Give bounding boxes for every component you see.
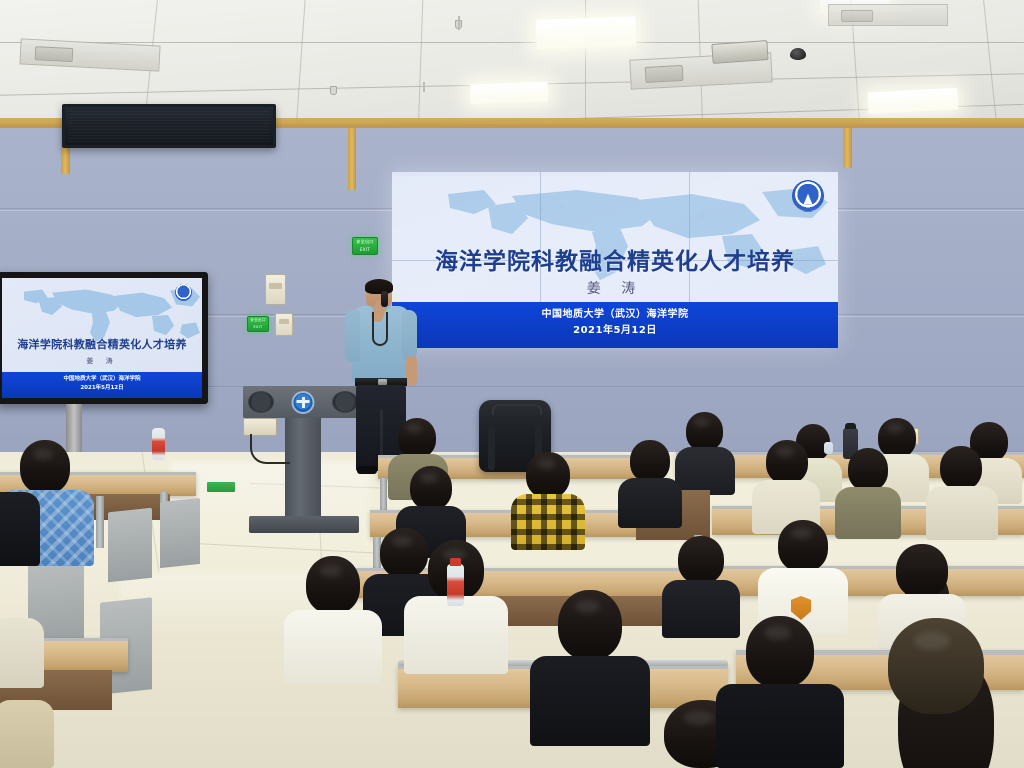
lectern-column bbox=[285, 418, 321, 522]
ceiling-light-panel bbox=[867, 88, 958, 115]
seat-back bbox=[160, 498, 200, 568]
university-seal-icon bbox=[792, 180, 824, 212]
face-mask bbox=[824, 442, 833, 454]
exit-sign-line2: EXIT bbox=[353, 246, 377, 254]
bench-desk bbox=[706, 566, 1024, 596]
wall-trim-vertical bbox=[843, 128, 852, 168]
university-emblem-icon bbox=[292, 391, 315, 414]
plaid-shirt-torso bbox=[511, 494, 585, 550]
ac-vent bbox=[19, 38, 160, 71]
exit-sign-line1: 安全出口 bbox=[248, 317, 268, 324]
red-label-water-bottle bbox=[447, 564, 464, 606]
lectern-speaker-grille-icon bbox=[248, 391, 274, 413]
exit-sign-line2: EXIT bbox=[248, 324, 268, 331]
slide-footer-affiliation: 中国地质大学（武汉）海洋学院 bbox=[392, 307, 838, 323]
wall-control-panel[interactable] bbox=[265, 274, 286, 305]
seat-back bbox=[108, 508, 152, 583]
ceiling-light-panel bbox=[470, 82, 549, 105]
floor-marker-sign bbox=[207, 482, 235, 492]
wall-led-banner bbox=[62, 104, 276, 148]
bottle-cap bbox=[450, 558, 461, 566]
wall-control-panel[interactable] bbox=[275, 313, 293, 336]
lecture-hall-photo: 海洋学院科教融合精英化人才培养 姜 涛 中国地质大学（武汉）海洋学院 2021年… bbox=[0, 0, 1024, 768]
slide-footer-date: 2021年5月12日 bbox=[392, 323, 838, 339]
handheld-microphone[interactable] bbox=[381, 291, 388, 307]
red-label-water-bottle bbox=[152, 428, 165, 460]
wall-trim-vertical bbox=[348, 128, 356, 190]
bench-leg bbox=[380, 478, 387, 512]
ac-vent bbox=[828, 4, 948, 26]
bench-leg bbox=[96, 496, 104, 548]
slide-presenter-name: 姜 涛 bbox=[392, 278, 838, 298]
side-monitor-footer: 中国地质大学（武汉）海洋学院 2021年5月12日 bbox=[2, 372, 202, 398]
speaker-lectern[interactable] bbox=[243, 386, 363, 418]
lectern-base bbox=[249, 516, 359, 533]
sprinkler-head bbox=[330, 86, 337, 95]
side-monitor-affiliation: 中国地质大学（武汉）海洋学院 bbox=[2, 375, 202, 384]
emergency-exit-sign: 安全出口 EXIT bbox=[352, 237, 378, 255]
ceiling-camera-icon bbox=[790, 48, 806, 60]
emergency-exit-sign: 安全出口 EXIT bbox=[247, 316, 269, 332]
university-seal-icon-small bbox=[175, 284, 192, 301]
side-monitor-presenter: 姜 涛 bbox=[2, 356, 202, 366]
main-projection-screen: 海洋学院科教融合精英化人才培养 姜 涛 中国地质大学（武汉）海洋学院 2021年… bbox=[392, 172, 838, 348]
slide-footer: 中国地质大学（武汉）海洋学院 2021年5月12日 bbox=[392, 302, 838, 348]
side-display-monitor: 海洋学院科教融合精英化人才培养 姜 涛 中国地质大学（武汉）海洋学院 2021年… bbox=[0, 272, 208, 404]
side-monitor-date: 2021年5月12日 bbox=[2, 384, 202, 393]
lanyard bbox=[372, 312, 388, 346]
ceiling-light-panel bbox=[536, 16, 637, 49]
speaker-hair bbox=[365, 279, 393, 294]
slide-title: 海洋学院科教融合精英化人才培养 bbox=[392, 242, 838, 276]
exit-sign-line1: 安全出口 bbox=[353, 238, 377, 246]
projector-mount bbox=[711, 40, 768, 64]
power-cable bbox=[250, 434, 290, 464]
side-monitor-title: 海洋学院科教融合精英化人才培养 bbox=[2, 336, 202, 352]
lectern-speaker-grille-icon bbox=[332, 391, 358, 413]
